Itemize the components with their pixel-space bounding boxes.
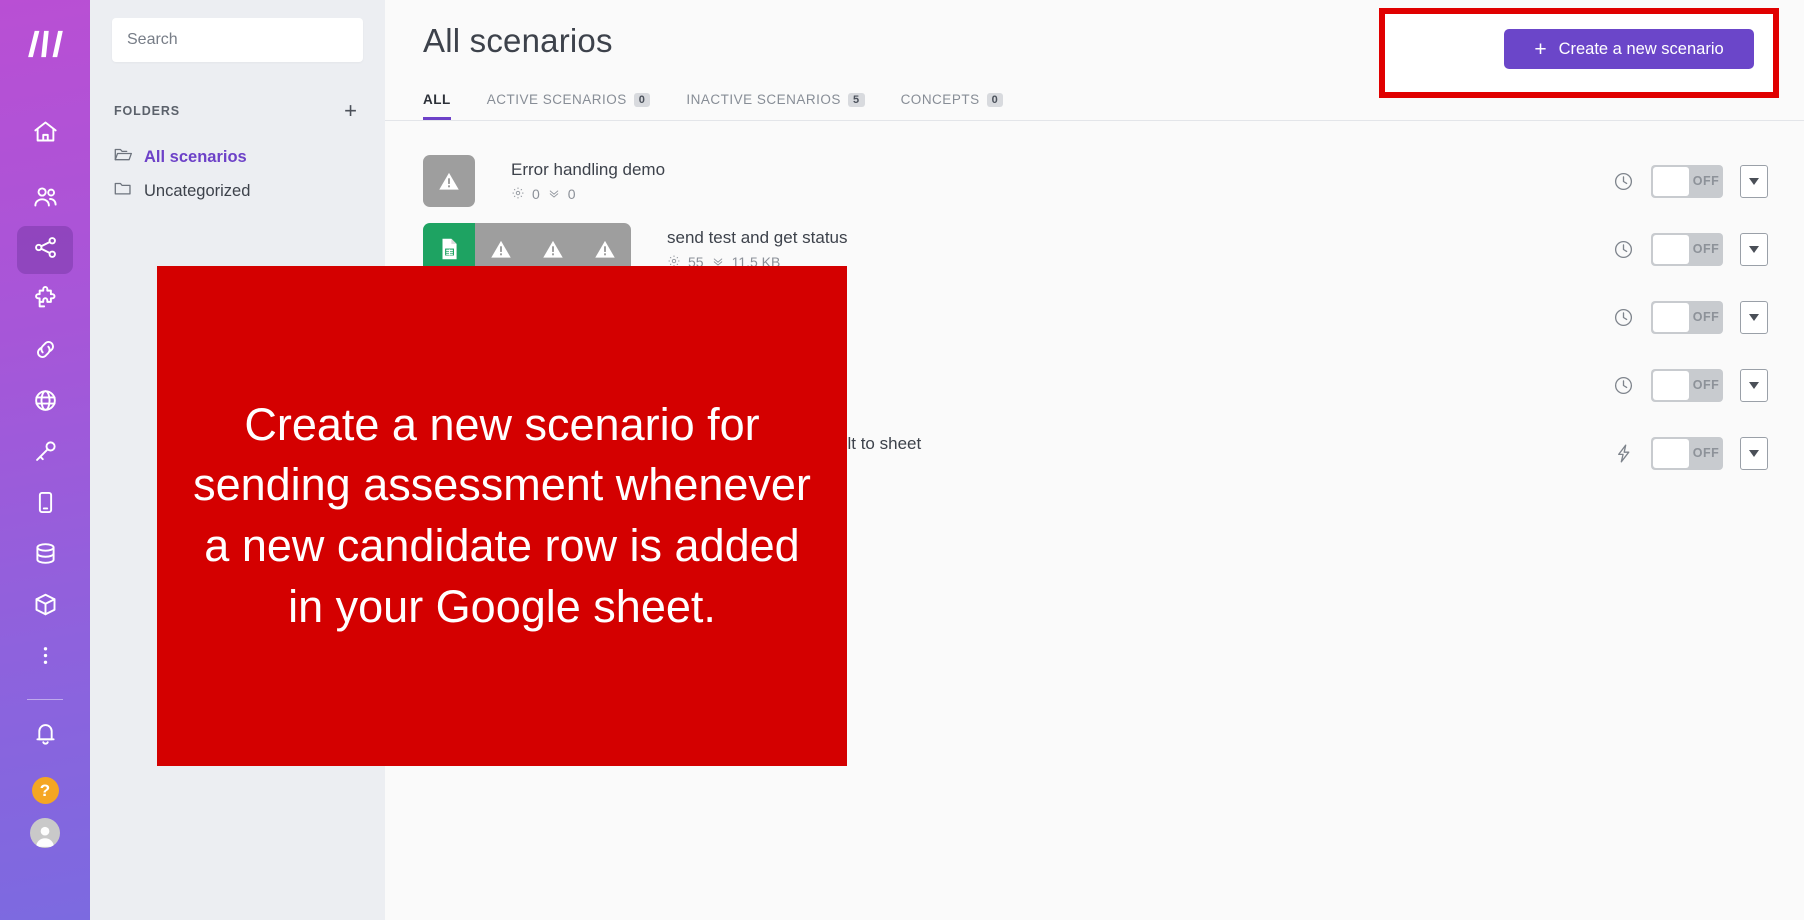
tab-active-scenarios[interactable]: ACTIVE SCENARIOS 0 [487, 92, 651, 120]
toggle-knob [1653, 303, 1689, 332]
tab-label: ACTIVE SCENARIOS [487, 92, 627, 107]
database-icon [32, 540, 59, 572]
toggle-knob [1653, 167, 1689, 196]
plus-icon: + [1534, 39, 1546, 60]
chevron-down-icon [1749, 444, 1759, 462]
share-nodes-icon [32, 234, 59, 266]
scenario-toggle[interactable]: OFF [1651, 233, 1723, 266]
scenario-title: send test and get status [667, 228, 1613, 248]
scenario-toggle[interactable]: OFF [1651, 301, 1723, 334]
toggle-knob [1653, 439, 1689, 468]
tab-label: ALL [423, 92, 451, 107]
scenario-controls: OFF [1613, 437, 1768, 470]
lightning-icon [1613, 443, 1634, 464]
callout-text: Create a new scenario for sending assess… [191, 395, 813, 638]
toggle-label: OFF [1689, 378, 1723, 392]
folders-header: FOLDERS + [112, 100, 363, 122]
sidebar-item-all-scenarios[interactable]: All scenarios [112, 140, 363, 174]
rail-item-templates[interactable] [17, 277, 73, 325]
create-a-new-scenario-button[interactable]: + Create a new scenario [1504, 29, 1754, 69]
app-root: ? FOLDERS + All scenarios Uncategorized [0, 0, 1804, 920]
row-menu-button[interactable] [1740, 437, 1768, 470]
chevron-down-icon [1749, 240, 1759, 258]
rail-item-devices[interactable] [17, 481, 73, 529]
scenario-controls: OFF [1613, 301, 1768, 334]
rail-item-data-stores[interactable] [17, 532, 73, 580]
folder-icon [114, 180, 133, 202]
table-row[interactable]: Error handling demo 0 0 [423, 147, 1768, 215]
rail-item-scenarios[interactable] [17, 226, 73, 274]
tab-concepts[interactable]: CONCEPTS 0 [901, 92, 1004, 120]
operations-count: 0 [532, 186, 540, 202]
folder-open-icon [114, 146, 133, 168]
chevron-down-icon [1749, 308, 1759, 326]
scenario-controls: OFF [1613, 165, 1768, 198]
row-menu-button[interactable] [1740, 165, 1768, 198]
folders-label: FOLDERS [114, 104, 180, 118]
clock-icon [1613, 171, 1634, 192]
toggle-knob [1653, 371, 1689, 400]
scenario-toggle[interactable]: OFF [1651, 437, 1723, 470]
puzzle-icon [32, 285, 59, 317]
rail-item-connections[interactable] [17, 328, 73, 376]
transfer-icon [547, 186, 561, 203]
clock-icon [1613, 239, 1634, 260]
mobile-icon [32, 489, 59, 521]
rail-divider [27, 699, 63, 700]
instruction-callout: Create a new scenario for sending assess… [157, 266, 847, 766]
rail-item-team[interactable] [17, 175, 73, 223]
rail-item-webhooks[interactable] [17, 379, 73, 427]
make-logo-icon[interactable] [19, 18, 71, 70]
folder-label: Uncategorized [144, 182, 250, 201]
tab-badge: 0 [987, 93, 1004, 107]
help-icon[interactable]: ? [32, 777, 59, 804]
scenario-toggle[interactable]: OFF [1651, 369, 1723, 402]
warning-icon [423, 155, 475, 207]
create-button-label: Create a new scenario [1559, 40, 1724, 59]
data-transfer: 0 [568, 186, 576, 202]
home-icon [32, 118, 59, 150]
cube-icon [32, 591, 59, 623]
tab-badge: 0 [634, 93, 651, 107]
row-menu-button[interactable] [1740, 233, 1768, 266]
tab-label: CONCEPTS [901, 92, 980, 107]
more-vertical-icon [32, 642, 59, 674]
rail-item-custom-apps[interactable] [17, 583, 73, 631]
rail-item-home[interactable] [17, 110, 73, 158]
row-menu-button[interactable] [1740, 369, 1768, 402]
scenario-info: Error handling demo 0 0 [511, 160, 1613, 203]
folder-list: All scenarios Uncategorized [112, 140, 363, 208]
chevron-down-icon [1749, 172, 1759, 190]
sidebar-item-uncategorized[interactable]: Uncategorized [112, 174, 363, 208]
scenario-controls: OFF [1613, 233, 1768, 266]
chevron-down-icon [1749, 376, 1759, 394]
user-avatar-icon [32, 822, 58, 848]
scenario-info: send test and get status 55 11.5 KB [667, 228, 1613, 271]
team-icon [32, 183, 59, 215]
toggle-label: OFF [1689, 174, 1723, 188]
scenario-controls: OFF [1613, 369, 1768, 402]
scenario-module-thumbnails [423, 155, 475, 207]
globe-icon [32, 387, 59, 419]
icon-rail: ? [0, 0, 90, 920]
scenario-meta: 0 0 [511, 186, 1613, 203]
tab-all[interactable]: ALL [423, 92, 451, 120]
tab-inactive-scenarios[interactable]: INACTIVE SCENARIOS 5 [686, 92, 864, 120]
tab-label: INACTIVE SCENARIOS [686, 92, 841, 107]
tab-bar: ALL ACTIVE SCENARIOS 0 INACTIVE SCENARIO… [423, 84, 1804, 120]
tab-badge: 5 [848, 93, 865, 107]
rail-item-keys[interactable] [17, 430, 73, 478]
clock-icon [1613, 375, 1634, 396]
link-icon [32, 336, 59, 368]
rail-item-more[interactable] [17, 634, 73, 682]
toggle-label: OFF [1689, 242, 1723, 256]
search-input[interactable] [112, 18, 363, 62]
clock-icon [1613, 307, 1634, 328]
bell-icon [32, 720, 59, 752]
add-folder-button[interactable]: + [340, 100, 361, 122]
rail-item-notifications[interactable] [17, 712, 73, 760]
key-icon [32, 438, 59, 470]
avatar[interactable] [30, 818, 60, 848]
toggle-label: OFF [1689, 446, 1723, 460]
scenario-title: Error handling demo [511, 160, 1613, 180]
gear-icon [511, 186, 525, 203]
toggle-knob [1653, 235, 1689, 264]
folder-label: All scenarios [144, 148, 247, 167]
row-menu-button[interactable] [1740, 301, 1768, 334]
scenario-toggle[interactable]: OFF [1651, 165, 1723, 198]
toggle-label: OFF [1689, 310, 1723, 324]
